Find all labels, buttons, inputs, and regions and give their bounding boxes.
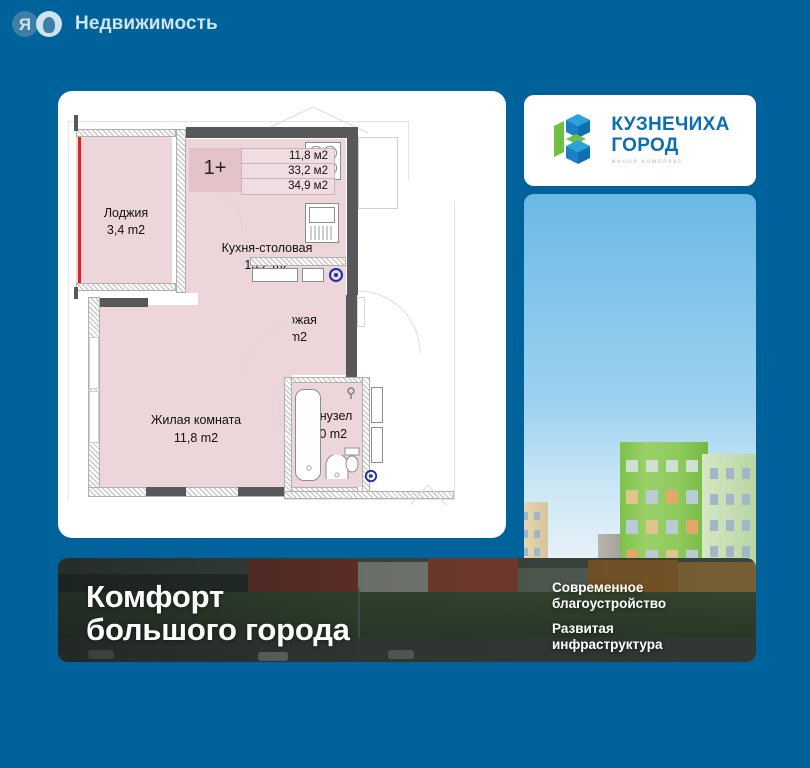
radiator-icon (309, 225, 335, 241)
room-area-loggia: 3,4 m2 (76, 223, 176, 237)
room-label-kitchen: Кухня-столовая (186, 241, 348, 255)
loggia-wall-top (76, 129, 176, 137)
banner-title: Комфорт большого города (86, 580, 350, 647)
wall-segment (238, 487, 284, 496)
bullet1-line2: благоустройство (552, 596, 666, 612)
banner-bullets: Современное благоустройство Развитая инф… (552, 580, 666, 653)
counter-unit (302, 268, 324, 282)
yandex-realty-logo[interactable]: Я Недвижимость (12, 11, 218, 37)
wall-segment (100, 298, 148, 307)
wall-hall-right (346, 295, 357, 381)
developer-name-line1: КУЗНЕЧИХА (611, 115, 729, 134)
promo-page: Я Недвижимость Лоджия 3,4 m2 (0, 0, 810, 768)
developer-subtitle: жилой комплекс (611, 159, 729, 166)
riser-shaft-2 (371, 427, 383, 463)
door-arc-living-icon (244, 323, 300, 379)
window-living-1 (89, 337, 99, 389)
area-without-loggia: 33,2 м2 (242, 164, 334, 179)
riser-shaft-1 (371, 387, 383, 423)
guide-arrow-icon (410, 483, 450, 507)
toilet-fixture-icon (344, 447, 360, 475)
area-total: 34,9 м2 (242, 179, 334, 194)
wall-exterior-right (347, 127, 358, 295)
banner-title-line1: Комфорт (86, 580, 350, 613)
window-living-2 (89, 391, 99, 443)
utility-marker-icon (364, 469, 378, 483)
banner-title-line2: большого города (86, 613, 350, 646)
bullet1-line1: Современное (552, 580, 666, 596)
door-arc-entrance-icon (358, 289, 424, 355)
floor-plan: Лоджия 3,4 m2 Кухня-столовая 13,2 m2 (58, 91, 506, 538)
developer-logo-card[interactable]: КУЗНЕЧИХА ГОРОД жилой комплекс (524, 95, 756, 186)
room-label-loggia: Лоджия (76, 206, 176, 220)
door-arc-bath-icon (254, 379, 290, 439)
areas-table: 11,8 м2 33,2 м2 34,9 м2 (241, 148, 335, 195)
bullet2-line2: инфраструктура (552, 637, 666, 653)
wall-segment (146, 487, 186, 496)
area-total-living: 11,8 м2 (242, 149, 334, 164)
banner-bullet-2: Развитая инфраструктура (552, 621, 666, 653)
guide-line (68, 121, 69, 501)
header-title: Недвижимость (75, 13, 218, 35)
entrance-door-leaf (357, 297, 365, 327)
developer-logo-text: КУЗНЕЧИХА ГОРОД жилой комплекс (611, 115, 729, 166)
bathtub-drain-icon (304, 463, 314, 473)
wall-exterior-top (186, 127, 358, 138)
partition-wall (176, 129, 186, 293)
utility-marker-icon (328, 267, 344, 283)
developer-name-line2: ГОРОД (611, 136, 729, 155)
bullet2-line1: Развитая (552, 621, 666, 637)
guide-line (454, 201, 455, 501)
sink-fixture (252, 268, 298, 282)
realty-circle-icon (36, 11, 62, 37)
loggia-wall-bottom (76, 283, 176, 291)
yandex-ya-icon: Я (12, 11, 38, 37)
kuznechikha-k-icon (550, 112, 602, 170)
header: Я Недвижимость (0, 0, 810, 48)
bath-wall-top (284, 377, 370, 383)
exterior-window-box (358, 137, 398, 209)
cabinet-shelf (309, 207, 335, 223)
wall-stub (74, 115, 78, 131)
wall-stub (74, 287, 78, 299)
counter-strip (250, 257, 346, 266)
rooms-badge-label: 1+ (189, 157, 241, 180)
guide-line (408, 121, 409, 181)
promo-banner[interactable]: Комфорт большого города Современное благ… (58, 558, 756, 662)
banner-bullet-1: Современное благоустройство (552, 580, 666, 612)
shower-head-icon (344, 387, 358, 401)
floor-plan-card[interactable]: Лоджия 3,4 m2 Кухня-столовая 13,2 m2 (58, 91, 506, 538)
door-arc-kitchen-icon (196, 186, 242, 238)
